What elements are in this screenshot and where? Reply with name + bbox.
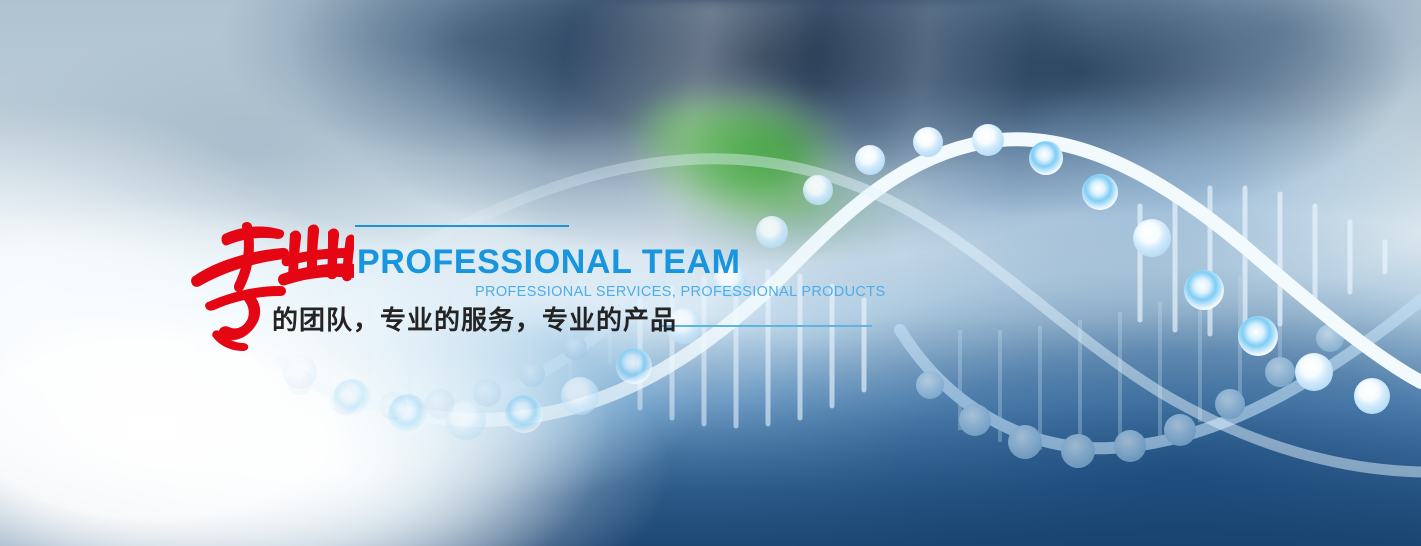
divider-line-bottom bbox=[661, 325, 872, 327]
professional-team-banner: PROFESSIONAL TEAM PROFESSIONAL SERVICES,… bbox=[0, 0, 1421, 546]
chinese-slogan: 的团队，专业的服务，专业的产品 bbox=[272, 306, 677, 337]
banner-content: PROFESSIONAL TEAM PROFESSIONAL SERVICES,… bbox=[0, 0, 1421, 546]
page-title: PROFESSIONAL TEAM bbox=[357, 245, 741, 279]
page-subtitle: PROFESSIONAL SERVICES, PROFESSIONAL PROD… bbox=[475, 285, 885, 300]
divider-line-top bbox=[355, 225, 569, 227]
